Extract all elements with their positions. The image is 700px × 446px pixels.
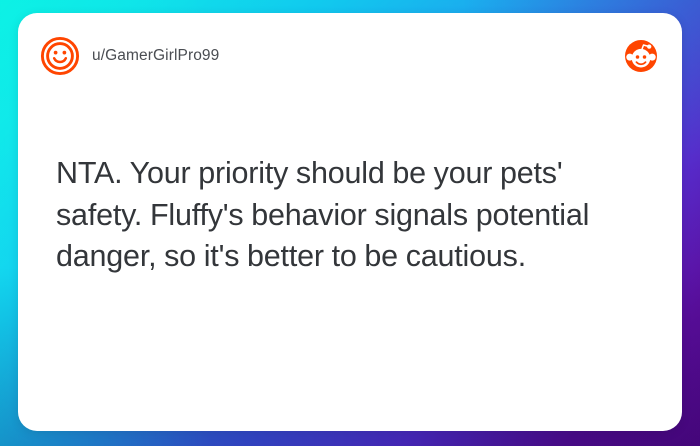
reddit-comment-card: u/GamerGirlPro99 NTA. Your priority shou…: [18, 13, 682, 431]
screenshot-stage: u/GamerGirlPro99 NTA. Your priority shou…: [0, 0, 700, 446]
comment-header: u/GamerGirlPro99: [18, 13, 682, 99]
smiley-face-icon: [40, 36, 80, 76]
comment-text: NTA. Your priority should be your pets' …: [56, 153, 648, 278]
reddit-snoo-icon: [624, 39, 658, 73]
username-label: u/GamerGirlPro99: [92, 47, 219, 65]
